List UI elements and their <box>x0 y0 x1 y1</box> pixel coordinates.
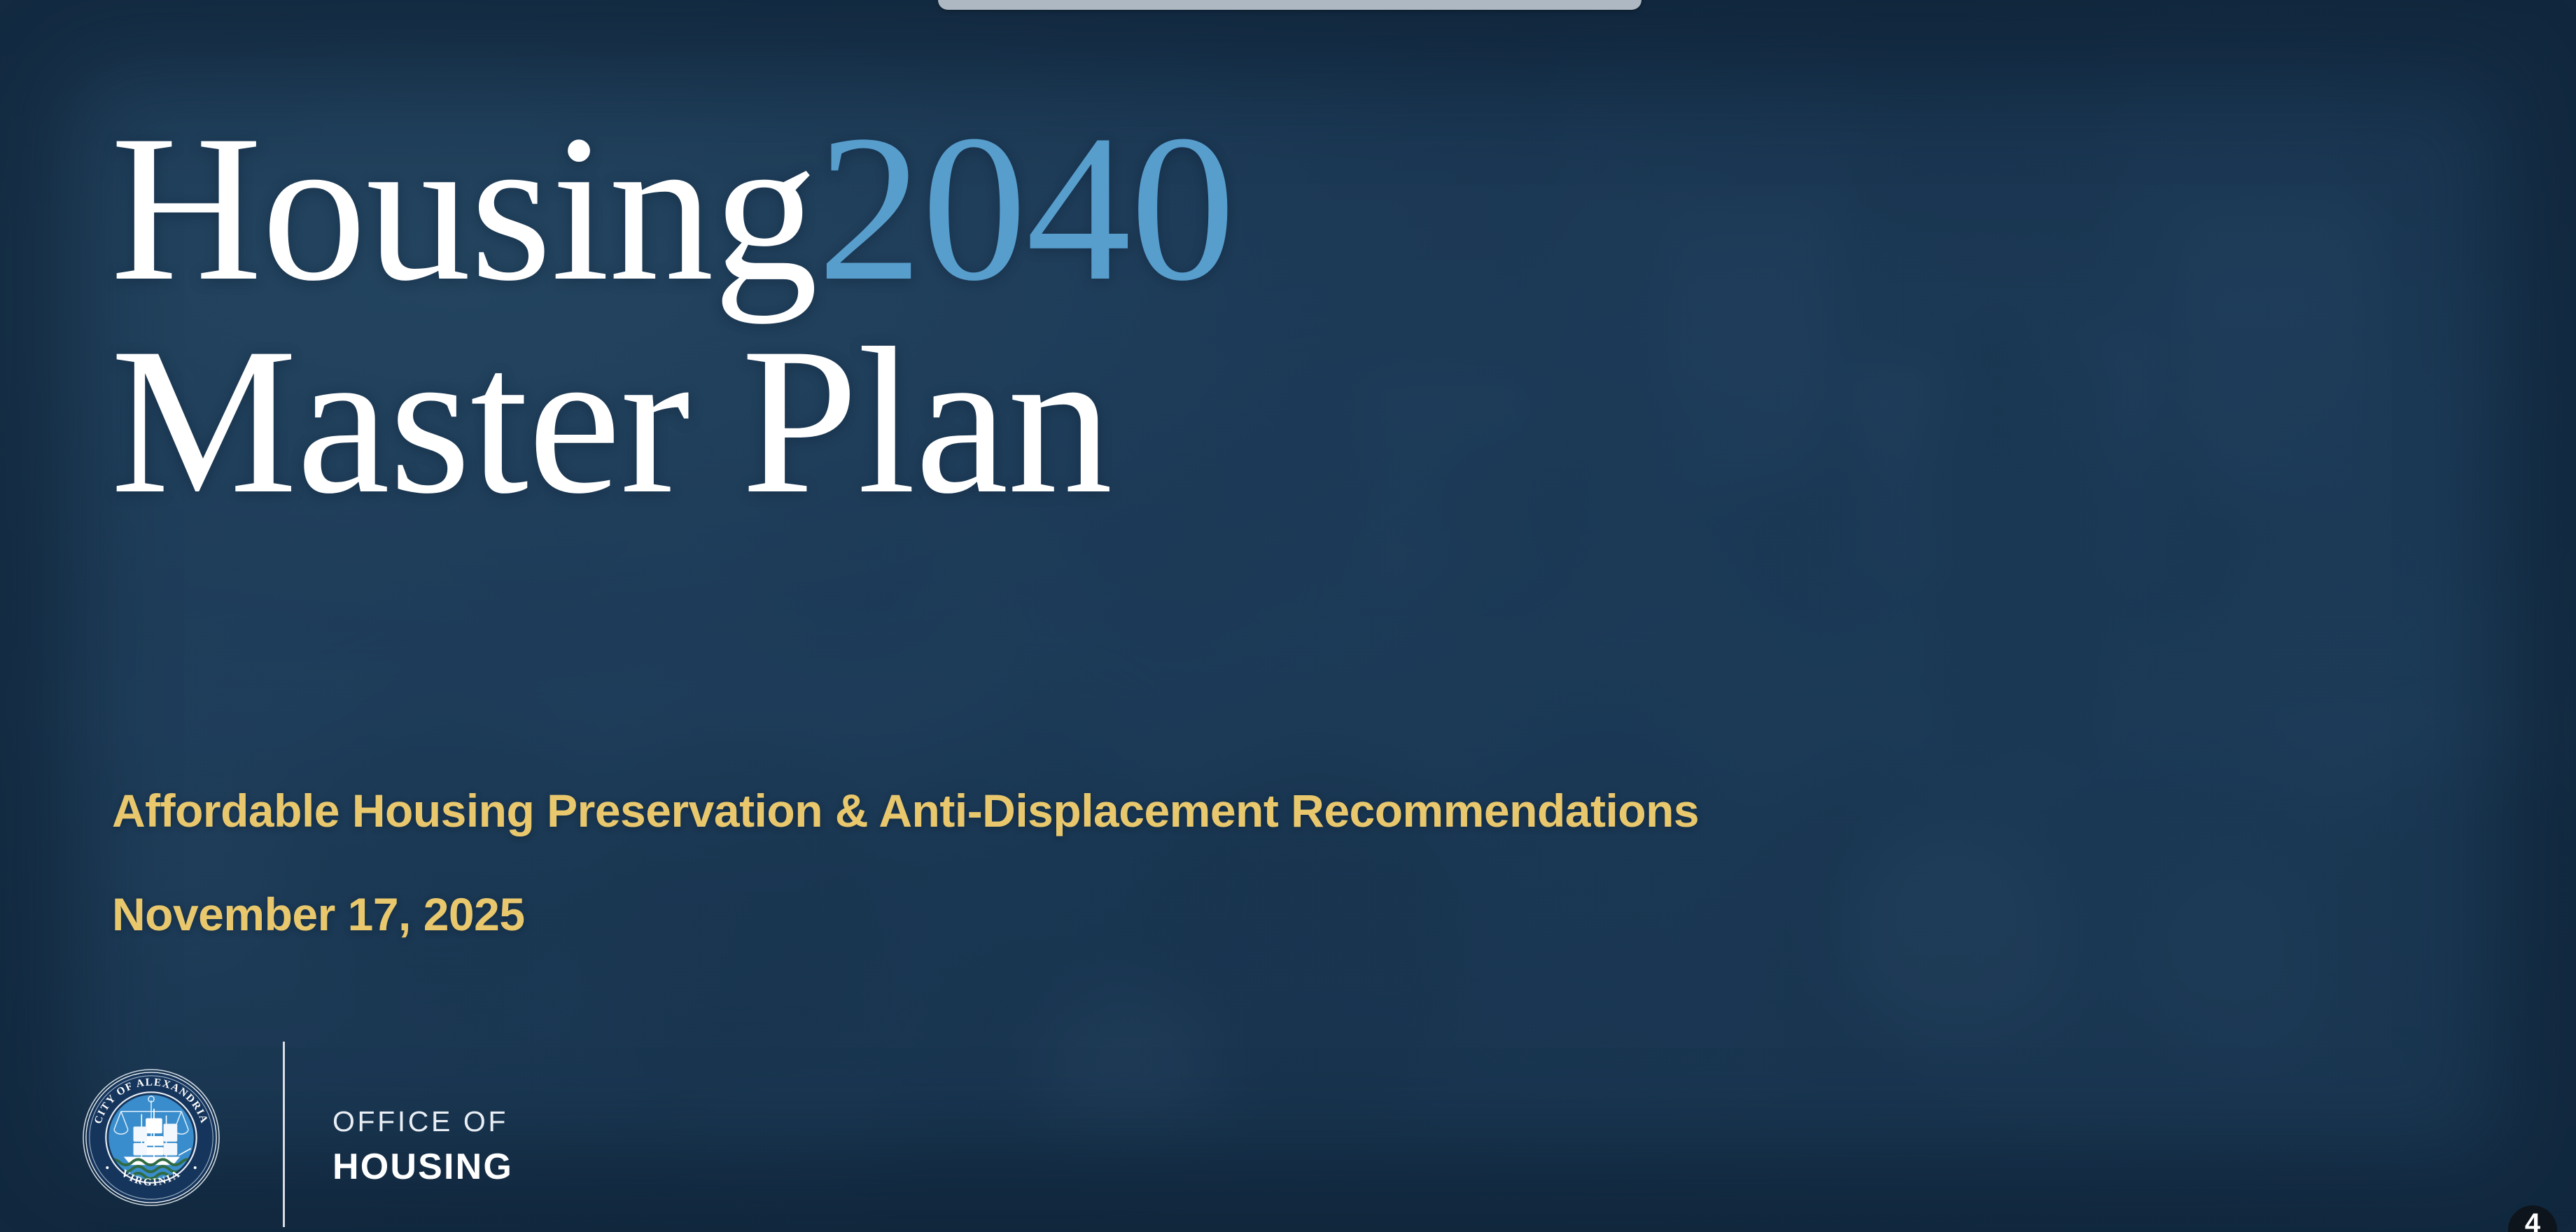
office-of-housing-wordmark: OFFICE OF HOUSING <box>332 1107 513 1186</box>
slide-content: Housing2040 Master Plan Affordable Housi… <box>0 0 2576 1232</box>
logo-divider <box>283 1042 285 1227</box>
org-line-office-of: OFFICE OF <box>332 1107 513 1137</box>
presentation-slide: Housing2040 Master Plan Affordable Housi… <box>0 0 2576 1232</box>
slide-date: November 17, 2025 <box>112 888 525 941</box>
page-title: Housing2040 Master Plan <box>111 105 2211 524</box>
org-line-housing: HOUSING <box>332 1148 513 1186</box>
logo-lockup: CITY OF ALEXANDRIA VIRGINIA OFFICE OF HO… <box>83 1043 513 1232</box>
title-main-text: Housing <box>111 92 818 324</box>
slide-subtitle: Affordable Housing Preservation & Anti-D… <box>112 784 1699 837</box>
title-second-line: Master Plan <box>111 318 2211 524</box>
city-of-alexandria-seal-icon: CITY OF ALEXANDRIA VIRGINIA <box>83 1069 220 1206</box>
cursor-badge-label: 4 <box>2525 1210 2540 1232</box>
title-year-text: 2040 <box>818 92 1235 324</box>
